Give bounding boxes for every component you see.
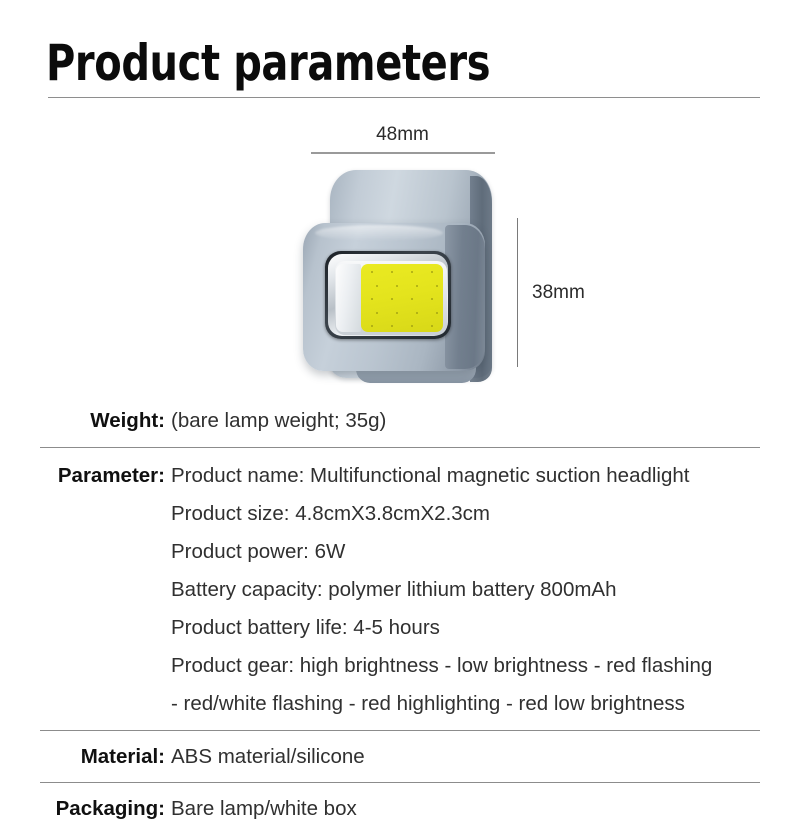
page-title: Product parameters	[46, 34, 490, 92]
spec-label-material: Material:	[40, 741, 171, 772]
led-dot	[371, 271, 373, 273]
housing-side-face	[445, 225, 485, 369]
height-dimension-line	[517, 218, 518, 367]
height-dimension-label: 38mm	[532, 282, 585, 304]
led-dot	[436, 285, 438, 287]
led-dot	[431, 325, 433, 327]
housing-highlight	[315, 225, 443, 241]
headlight-product-image	[296, 165, 506, 395]
lamp-housing	[303, 223, 485, 371]
spec-value-line: Product name: Multifunctional magnetic s…	[171, 460, 760, 491]
led-dot	[391, 325, 393, 327]
led-bezel-inner	[328, 254, 448, 336]
cob-led-panel	[361, 264, 443, 332]
spec-values-material: ABS material/silicone	[171, 741, 760, 772]
led-dot	[431, 298, 433, 300]
spec-label-packaging: Packaging:	[40, 793, 171, 824]
led-reflector-strip	[336, 264, 361, 332]
spec-row-packaging: Packaging:Bare lamp/white box	[0, 783, 800, 834]
spec-value-line: Product size: 4.8cmX3.8cmX2.3cm	[171, 498, 760, 529]
product-figure: 48mm 38mm	[0, 110, 800, 400]
spec-value-line: Product gear: high brightness - low brig…	[171, 650, 760, 681]
width-dimension-line	[311, 152, 495, 154]
led-dot	[431, 271, 433, 273]
spec-row-material: Material:ABS material/silicone	[0, 731, 800, 782]
led-dot	[411, 325, 413, 327]
led-dot	[416, 312, 418, 314]
led-dot	[436, 312, 438, 314]
spec-label-weight: Weight:	[40, 406, 171, 436]
led-dot	[391, 271, 393, 273]
spec-values-packaging: Bare lamp/white box	[171, 793, 760, 824]
led-dot	[376, 312, 378, 314]
spec-value-line: Product battery life: 4-5 hours	[171, 612, 760, 643]
spec-value-line: Product power: 6W	[171, 536, 760, 567]
spec-value-line: (bare lamp weight; 35g)	[171, 406, 760, 436]
led-bezel	[325, 251, 451, 339]
led-dot	[411, 298, 413, 300]
spec-label-parameter: Parameter:	[40, 460, 171, 491]
led-dot	[396, 312, 398, 314]
led-window	[335, 261, 447, 335]
title-divider	[48, 97, 760, 98]
led-dot	[391, 298, 393, 300]
led-dot	[411, 271, 413, 273]
spec-values-parameter: Product name: Multifunctional magnetic s…	[171, 460, 760, 719]
led-dot	[396, 285, 398, 287]
product-parameters-page: Product parameters 48mm 38mm	[0, 0, 800, 800]
spec-value-line: Bare lamp/white box	[171, 793, 760, 824]
led-dot	[371, 298, 373, 300]
specifications-list: Weight:(bare lamp weight; 35g)Parameter:…	[0, 398, 800, 834]
led-dot	[376, 285, 378, 287]
spec-value-line: ABS material/silicone	[171, 741, 760, 772]
spec-value-line: Battery capacity: polymer lithium batter…	[171, 574, 760, 605]
spec-value-line: - red/white flashing - red highlighting …	[171, 688, 760, 719]
spec-values-weight: (bare lamp weight; 35g)	[171, 406, 760, 436]
spec-row-weight: Weight:(bare lamp weight; 35g)	[0, 398, 800, 447]
spec-row-parameter: Parameter:Product name: Multifunctional …	[0, 448, 800, 730]
led-dot	[371, 325, 373, 327]
led-dot	[416, 285, 418, 287]
width-dimension-label: 48mm	[310, 124, 495, 146]
